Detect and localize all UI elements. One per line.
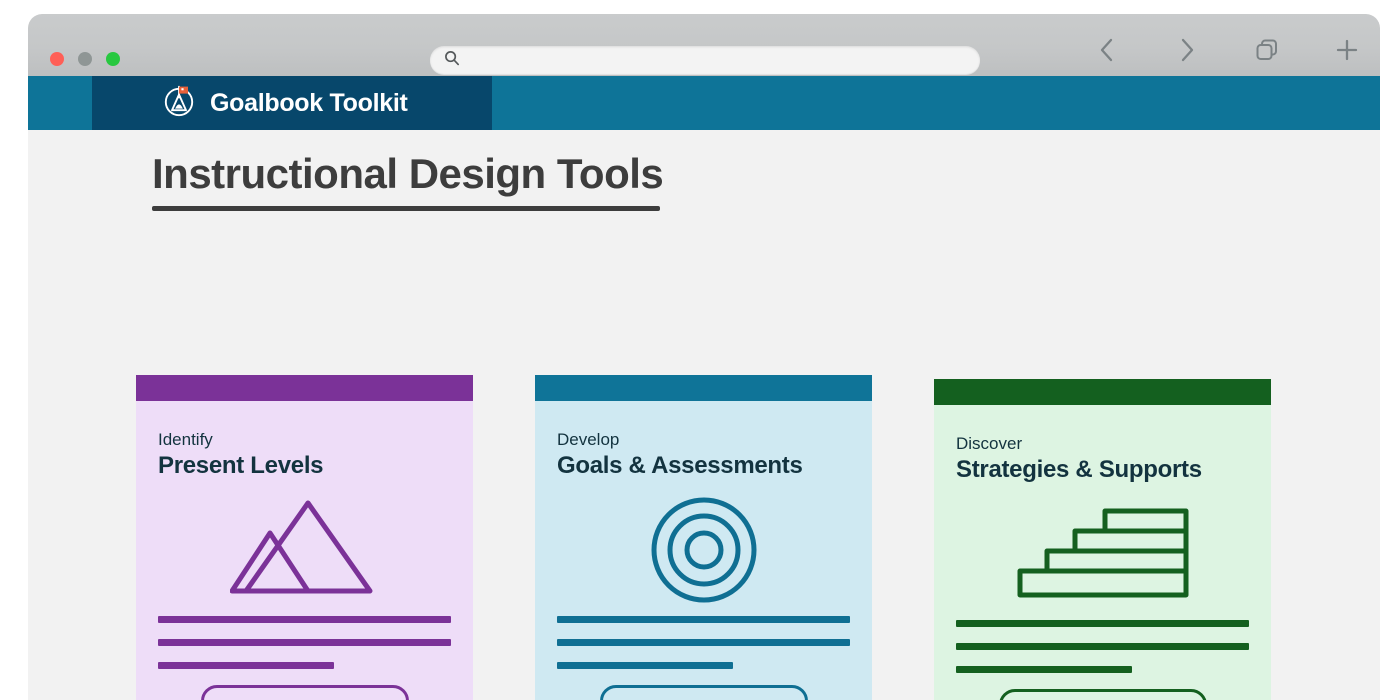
mountains-icon xyxy=(158,490,451,610)
card-title: Strategies & Supports xyxy=(956,456,1249,484)
search-icon xyxy=(444,50,460,71)
card-eyebrow: Identify xyxy=(158,431,451,450)
screenshot-root: Goalbook Toolkit Instructional Design To… xyxy=(0,0,1400,700)
card-action-button[interactable] xyxy=(201,685,409,700)
browser-toolbar-icons xyxy=(1092,34,1362,66)
page-title-block: Instructional Design Tools xyxy=(152,152,663,211)
new-tab-button[interactable] xyxy=(1332,34,1362,66)
card-header-bar xyxy=(934,379,1271,405)
forward-button[interactable] xyxy=(1172,34,1202,66)
placeholder-line xyxy=(158,662,334,669)
brand-home-link[interactable]: Goalbook Toolkit xyxy=(92,76,492,130)
placeholder-lines xyxy=(956,620,1249,673)
back-button[interactable] xyxy=(1092,34,1122,66)
page-title: Instructional Design Tools xyxy=(152,152,663,196)
placeholder-line xyxy=(557,616,850,623)
placeholder-line xyxy=(158,616,451,623)
card-eyebrow: Develop xyxy=(557,431,850,450)
card-header-bar xyxy=(535,375,872,401)
card-header-bar xyxy=(136,375,473,401)
card-title: Present Levels xyxy=(158,452,451,480)
tabs-button[interactable] xyxy=(1252,34,1282,66)
target-bullseye-icon xyxy=(557,490,850,610)
card-action-button[interactable] xyxy=(999,689,1207,700)
tool-card-strategies-supports[interactable]: Discover Strategies & Supports xyxy=(934,379,1271,700)
tool-card-grid: Identify Present Levels xyxy=(136,375,1296,700)
tool-card-goals-assessments[interactable]: Develop Goals & Assessments xyxy=(535,375,872,700)
search-input[interactable] xyxy=(460,46,980,74)
placeholder-line xyxy=(557,662,733,669)
placeholder-lines xyxy=(557,616,850,669)
brand-name: Goalbook Toolkit xyxy=(210,89,408,118)
card-eyebrow: Discover xyxy=(956,435,1249,454)
zoom-window-button[interactable] xyxy=(106,52,120,66)
site-navbar: Goalbook Toolkit xyxy=(28,76,1380,130)
browser-titlebar xyxy=(28,14,1380,76)
tool-card-present-levels[interactable]: Identify Present Levels xyxy=(136,375,473,700)
card-body: Develop Goals & Assessments xyxy=(535,401,872,700)
goalbook-logo-icon xyxy=(162,84,196,123)
minimize-window-button[interactable] xyxy=(78,52,92,66)
placeholder-lines xyxy=(158,616,451,669)
close-window-button[interactable] xyxy=(50,52,64,66)
title-underline xyxy=(152,206,660,211)
card-body: Discover Strategies & Supports xyxy=(934,405,1271,700)
placeholder-line xyxy=(158,639,451,646)
placeholder-line xyxy=(956,643,1249,650)
card-action-button[interactable] xyxy=(600,685,808,700)
placeholder-line xyxy=(956,620,1249,627)
card-title: Goals & Assessments xyxy=(557,452,850,480)
placeholder-line xyxy=(956,666,1132,673)
window-controls xyxy=(50,52,120,66)
browser-window: Goalbook Toolkit Instructional Design To… xyxy=(28,14,1380,700)
address-search-bar[interactable] xyxy=(430,46,980,74)
stairs-steps-icon xyxy=(956,494,1249,614)
card-body: Identify Present Levels xyxy=(136,401,473,700)
page-content: Instructional Design Tools Identify Pres… xyxy=(28,130,1380,700)
placeholder-line xyxy=(557,639,850,646)
